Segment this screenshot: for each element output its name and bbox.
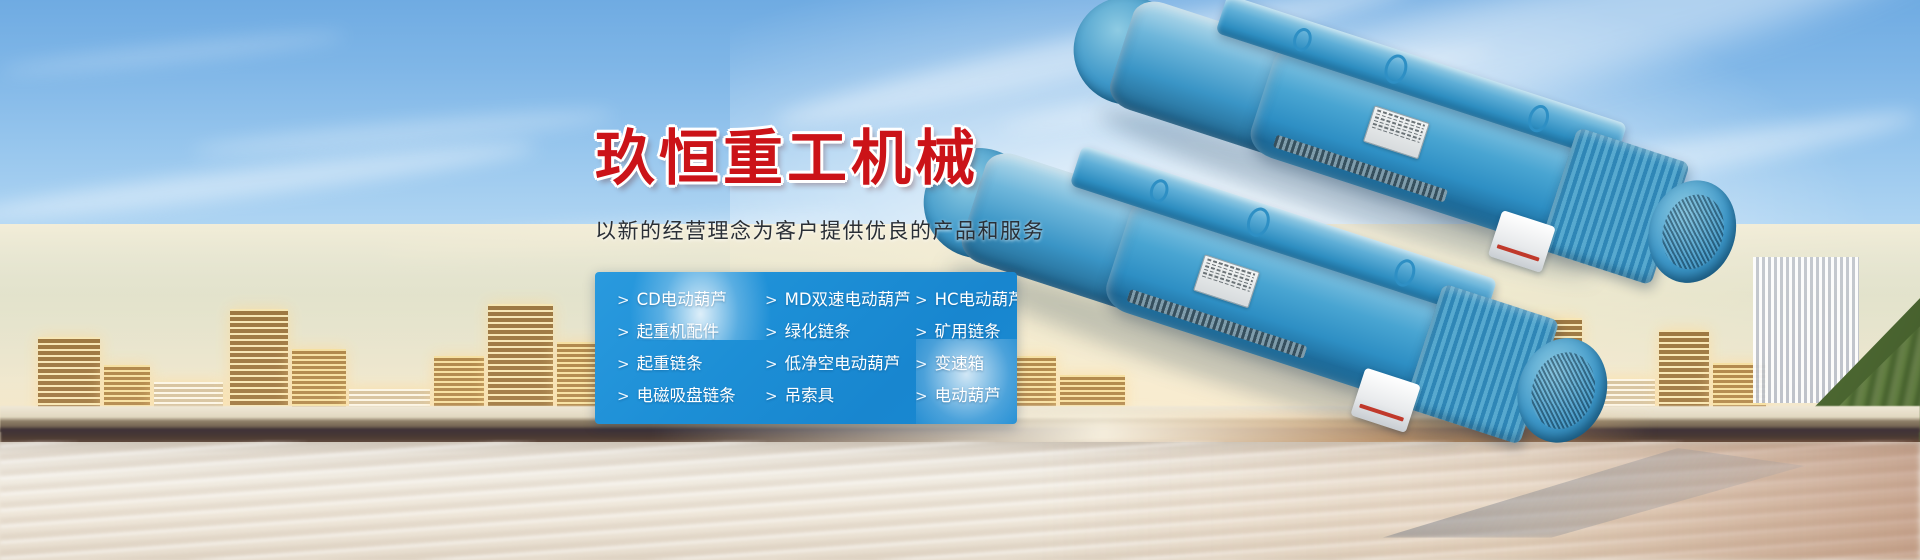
product-link-label: 矿用链条 (935, 324, 1001, 341)
chevron-right-icon: > (915, 325, 928, 340)
product-category-box: >CD电动葫芦>MD双速电动葫芦>HC电动葫芦>起重机配件>绿化链条>矿用链条>… (595, 272, 1017, 424)
banner-text-block: 玖恒重工机械 以新的经营理念为客户提供优良的产品和服务 (595, 128, 1025, 245)
product-link-label: 电磁吸盘链条 (637, 388, 736, 405)
chevron-right-icon: > (765, 293, 778, 308)
product-link[interactable]: >低净空电动葫芦 (765, 348, 915, 380)
product-link-label: CD电动葫芦 (637, 292, 727, 309)
product-link[interactable]: >HC电动葫芦 (915, 284, 1017, 316)
product-link-label: 起重机配件 (637, 324, 720, 341)
product-link-label: 绿化链条 (785, 324, 851, 341)
product-link-label: 吊索具 (785, 388, 835, 405)
product-link-label: 起重链条 (637, 356, 703, 373)
chevron-right-icon: > (765, 357, 778, 372)
electric-hoist-product-photo (1040, 40, 1800, 470)
chevron-right-icon: > (617, 357, 630, 372)
product-link[interactable]: >MD双速电动葫芦 (765, 284, 915, 316)
chevron-right-icon: > (617, 325, 630, 340)
product-link[interactable]: >矿用链条 (915, 316, 1017, 348)
chevron-right-icon: > (915, 357, 928, 372)
product-link-label: HC电动葫芦 (935, 292, 1017, 309)
product-link-label: 变速箱 (935, 356, 985, 373)
cloud-wisp (0, 27, 345, 80)
hero-banner: 玖恒重工机械 以新的经营理念为客户提供优良的产品和服务 >CD电动葫芦>MD双速… (0, 0, 1920, 560)
product-link[interactable]: >变速箱 (915, 348, 1017, 380)
product-link[interactable]: >吊索具 (765, 380, 915, 412)
product-link[interactable]: >电动葫芦 (915, 380, 1017, 412)
product-link-grid: >CD电动葫芦>MD双速电动葫芦>HC电动葫芦>起重机配件>绿化链条>矿用链条>… (595, 272, 1017, 424)
chevron-right-icon: > (915, 389, 928, 404)
product-link[interactable]: >起重链条 (617, 348, 765, 380)
product-link-label: MD双速电动葫芦 (785, 292, 911, 309)
product-link-label: 电动葫芦 (935, 388, 1001, 405)
page-title: 玖恒重工机械 (595, 128, 1025, 191)
chevron-right-icon: > (765, 389, 778, 404)
page-subtitle: 以新的经营理念为客户提供优良的产品和服务 (595, 215, 1025, 245)
chevron-right-icon: > (617, 293, 630, 308)
chevron-right-icon: > (765, 325, 778, 340)
product-link[interactable]: >起重机配件 (617, 316, 765, 348)
product-link[interactable]: >CD电动葫芦 (617, 284, 765, 316)
chevron-right-icon: > (617, 389, 630, 404)
chevron-right-icon: > (915, 293, 928, 308)
product-link[interactable]: >电磁吸盘链条 (617, 380, 765, 412)
product-link[interactable]: >绿化链条 (765, 316, 915, 348)
product-link-label: 低净空电动葫芦 (785, 356, 901, 373)
